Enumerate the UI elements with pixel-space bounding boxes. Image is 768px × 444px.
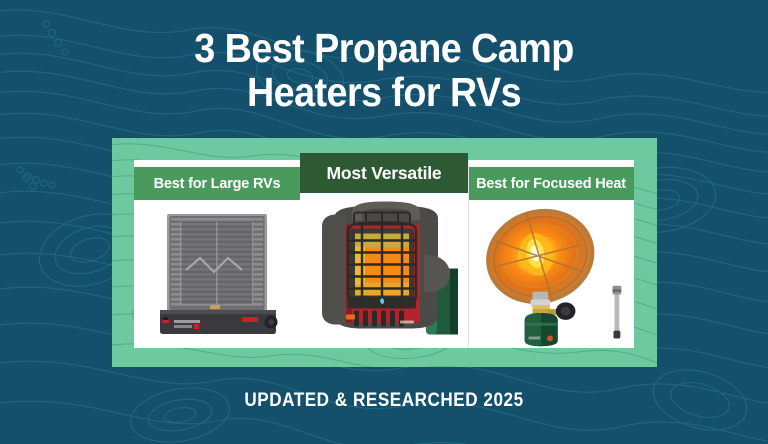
product-column-3[interactable]: Best for Focused Heat — [468, 160, 634, 348]
column-1-spacer — [134, 160, 300, 167]
column-divider — [468, 160, 469, 348]
title-line-2: Heaters for RVs — [31, 70, 738, 114]
page-title: 3 Best Propane Camp Heaters for RVs — [0, 26, 768, 114]
portable-buddy-propane-heater-image — [300, 193, 468, 348]
poster-graphic: 3 Best Propane Camp Heaters for RVs — [0, 0, 768, 444]
badge-most-versatile: Most Versatile — [300, 153, 468, 193]
radiant-dish-propane-heater-image — [468, 200, 634, 348]
title-line-1: 3 Best Propane Camp — [31, 26, 738, 70]
column-3-spacer — [468, 160, 634, 167]
product-comparison-card: Best for Large RVs — [134, 160, 634, 348]
wall-mount-propane-heater-image — [134, 200, 300, 348]
badge-best-for-focused-heat: Best for Focused Heat — [468, 167, 634, 200]
footer-note: UPDATED & RESEARCHED 2025 — [38, 390, 729, 412]
product-column-1[interactable]: Best for Large RVs — [134, 160, 300, 348]
product-column-2[interactable]: Most Versatile — [300, 160, 468, 348]
badge-best-for-large-rvs: Best for Large RVs — [134, 167, 300, 200]
